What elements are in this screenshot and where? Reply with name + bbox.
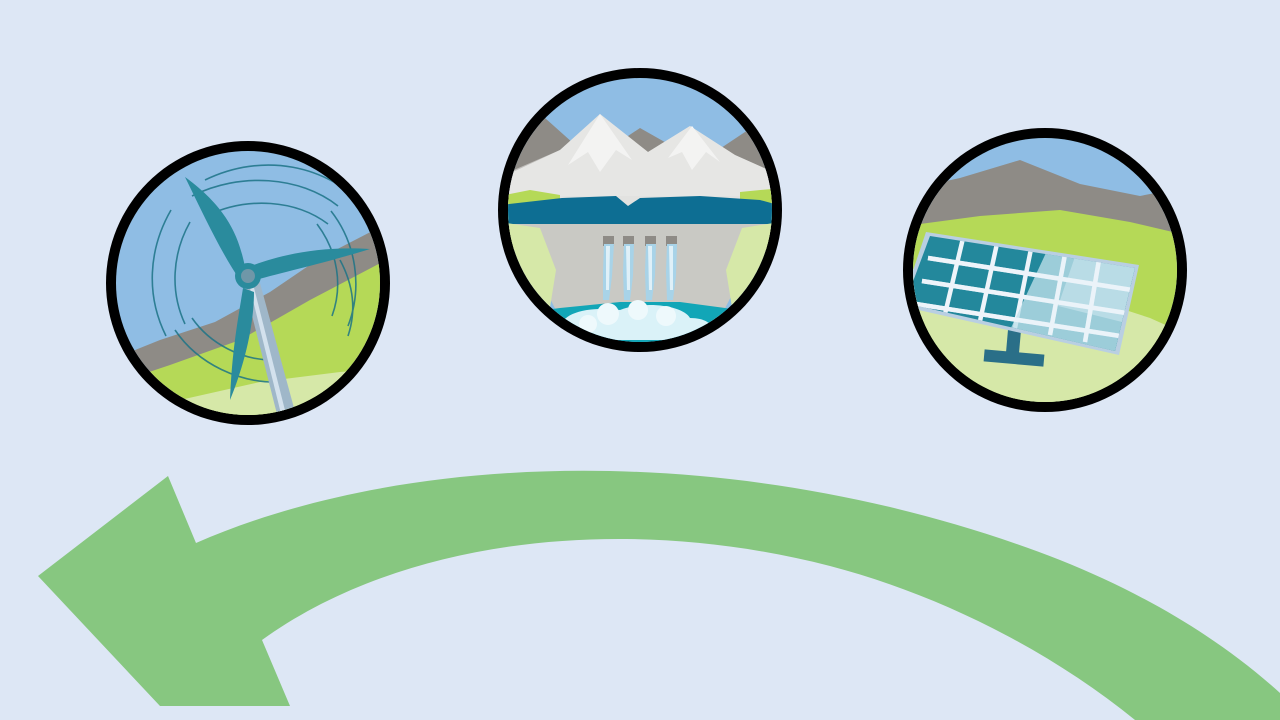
foam-bubble [628, 300, 648, 320]
illustration-stage: Renewable Energy Sources Illustration Wi… [0, 0, 1280, 720]
foam-bubble [656, 306, 676, 326]
scene-svg [0, 0, 1280, 720]
foam-bubble [597, 303, 619, 325]
reservoir-water [500, 196, 782, 228]
turbine-hub-center [241, 269, 255, 283]
